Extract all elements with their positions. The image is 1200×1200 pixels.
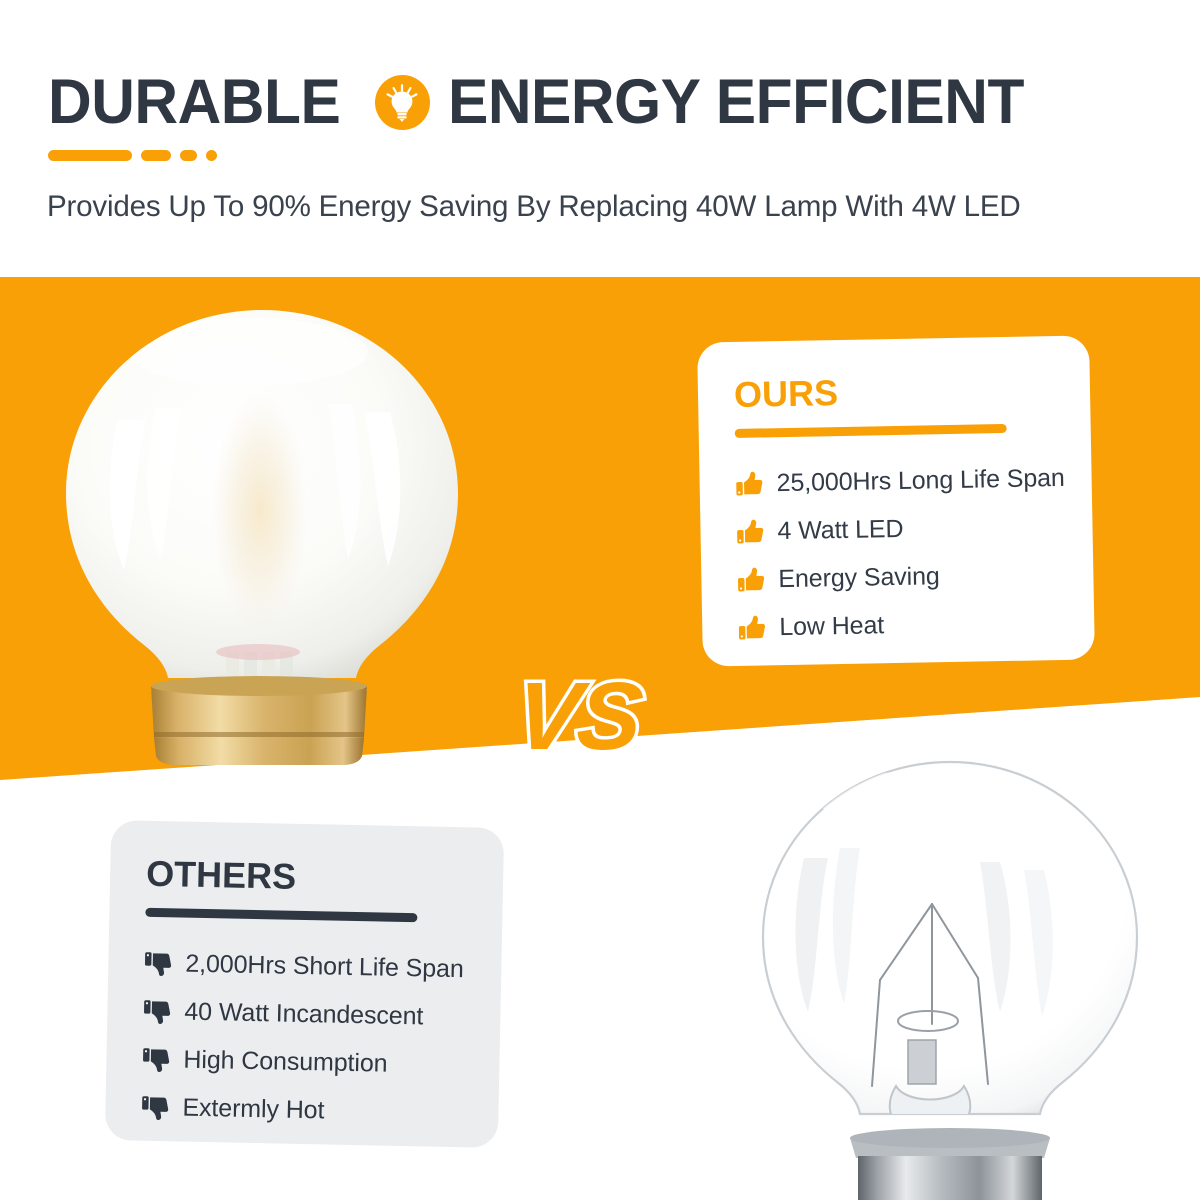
list-item: Low Heat bbox=[738, 599, 1095, 650]
incandescent-bulb-image bbox=[700, 758, 1200, 1200]
page-title: DURABLE bbox=[48, 66, 1047, 138]
list-item: 25,000Hrs Long Life Span bbox=[735, 455, 1092, 506]
list-item-label: 40 Watt Incandescent bbox=[184, 999, 423, 1029]
list-item-label: High Consumption bbox=[183, 1047, 388, 1076]
others-comparison-card: OTHERS 2,000Hrs Short Life Span bbox=[105, 820, 504, 1148]
thumbs-up-icon bbox=[737, 566, 764, 593]
thumbs-down-icon bbox=[141, 1093, 169, 1121]
list-item-label: 2,000Hrs Short Life Span bbox=[185, 951, 464, 982]
others-heading-rule bbox=[145, 908, 417, 922]
lightbulb-icon bbox=[375, 75, 430, 130]
accent-dash-1 bbox=[48, 150, 132, 161]
incandescent-metal-base bbox=[850, 1128, 1050, 1200]
list-item: Energy Saving bbox=[737, 551, 1094, 602]
list-item-label: Energy Saving bbox=[778, 564, 940, 592]
others-heading: OTHERS bbox=[146, 856, 504, 899]
accent-dash-3 bbox=[180, 150, 197, 161]
ours-comparison-card: OURS 25,000Hrs Long Life Span bbox=[697, 335, 1095, 666]
accent-dashes bbox=[48, 150, 217, 161]
thumbs-down-icon bbox=[143, 997, 171, 1025]
list-item-label: Low Heat bbox=[779, 613, 884, 640]
header-section: DURABLE bbox=[0, 0, 1200, 277]
led-bulb-brass-base bbox=[151, 676, 367, 765]
led-bulb-image bbox=[52, 300, 472, 775]
versus-label: VS bbox=[511, 669, 645, 765]
thumbs-up-icon bbox=[736, 518, 763, 545]
list-item-label: Extermly Hot bbox=[182, 1095, 324, 1123]
list-item: High Consumption bbox=[142, 1037, 500, 1088]
page-subtitle: Provides Up To 90% Energy Saving By Repl… bbox=[47, 190, 1021, 224]
list-item-label: 25,000Hrs Long Life Span bbox=[776, 465, 1065, 495]
list-item: Extermly Hot bbox=[141, 1085, 499, 1136]
title-word-durable: DURABLE bbox=[48, 71, 340, 134]
title-word-energy-efficient: ENERGY EFFICIENT bbox=[448, 71, 1024, 134]
thumbs-up-icon bbox=[735, 470, 762, 497]
list-item: 4 Watt LED bbox=[736, 503, 1093, 554]
ours-feature-list: 25,000Hrs Long Life Span 4 Watt LED bbox=[735, 455, 1094, 649]
accent-dash-4 bbox=[206, 150, 217, 161]
list-item: 40 Watt Incandescent bbox=[143, 989, 501, 1040]
list-item: 2,000Hrs Short Life Span bbox=[144, 941, 502, 992]
others-feature-list: 2,000Hrs Short Life Span 40 Watt Incande… bbox=[141, 941, 502, 1136]
ours-heading: OURS bbox=[734, 370, 1091, 413]
accent-dash-2 bbox=[141, 150, 171, 161]
promo-infographic: DURABLE bbox=[0, 0, 1200, 1200]
list-item-label: 4 Watt LED bbox=[777, 516, 903, 543]
thumbs-down-icon bbox=[142, 1045, 170, 1073]
thumbs-down-icon bbox=[144, 949, 172, 977]
thumbs-up-icon bbox=[738, 614, 765, 641]
ours-heading-rule bbox=[735, 424, 1007, 438]
